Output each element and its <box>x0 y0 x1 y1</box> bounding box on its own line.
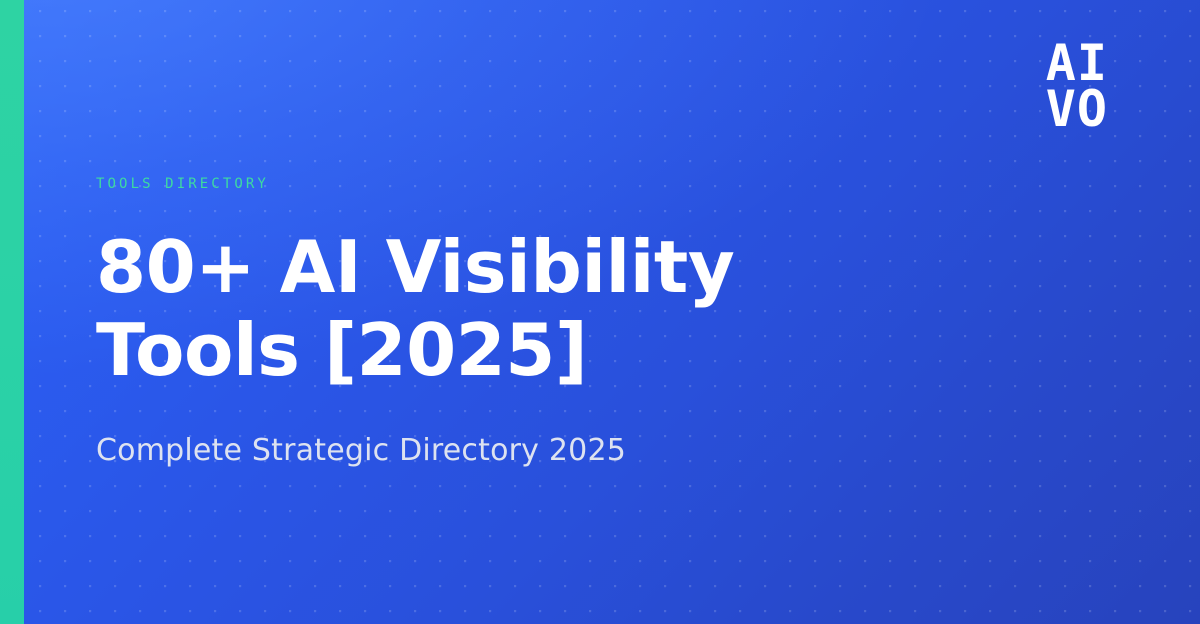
title-line-1: 80+ AI Visibility <box>96 225 734 309</box>
og-card: AI VO TOOLS DIRECTORY 80+ AI Visibility … <box>0 0 1200 624</box>
title-line-2: Tools [2025] <box>96 308 587 392</box>
left-accent-bar <box>0 0 24 624</box>
page-subtitle: Complete Strategic Directory 2025 <box>96 431 956 470</box>
hero-content: TOOLS DIRECTORY 80+ AI Visibility Tools … <box>96 0 956 624</box>
eyebrow-label: TOOLS DIRECTORY <box>96 176 956 192</box>
brand-logo: AI VO <box>1046 40 1108 132</box>
page-title: 80+ AI Visibility Tools [2025] <box>96 226 736 390</box>
logo-line-vo: VO <box>1046 86 1108 132</box>
